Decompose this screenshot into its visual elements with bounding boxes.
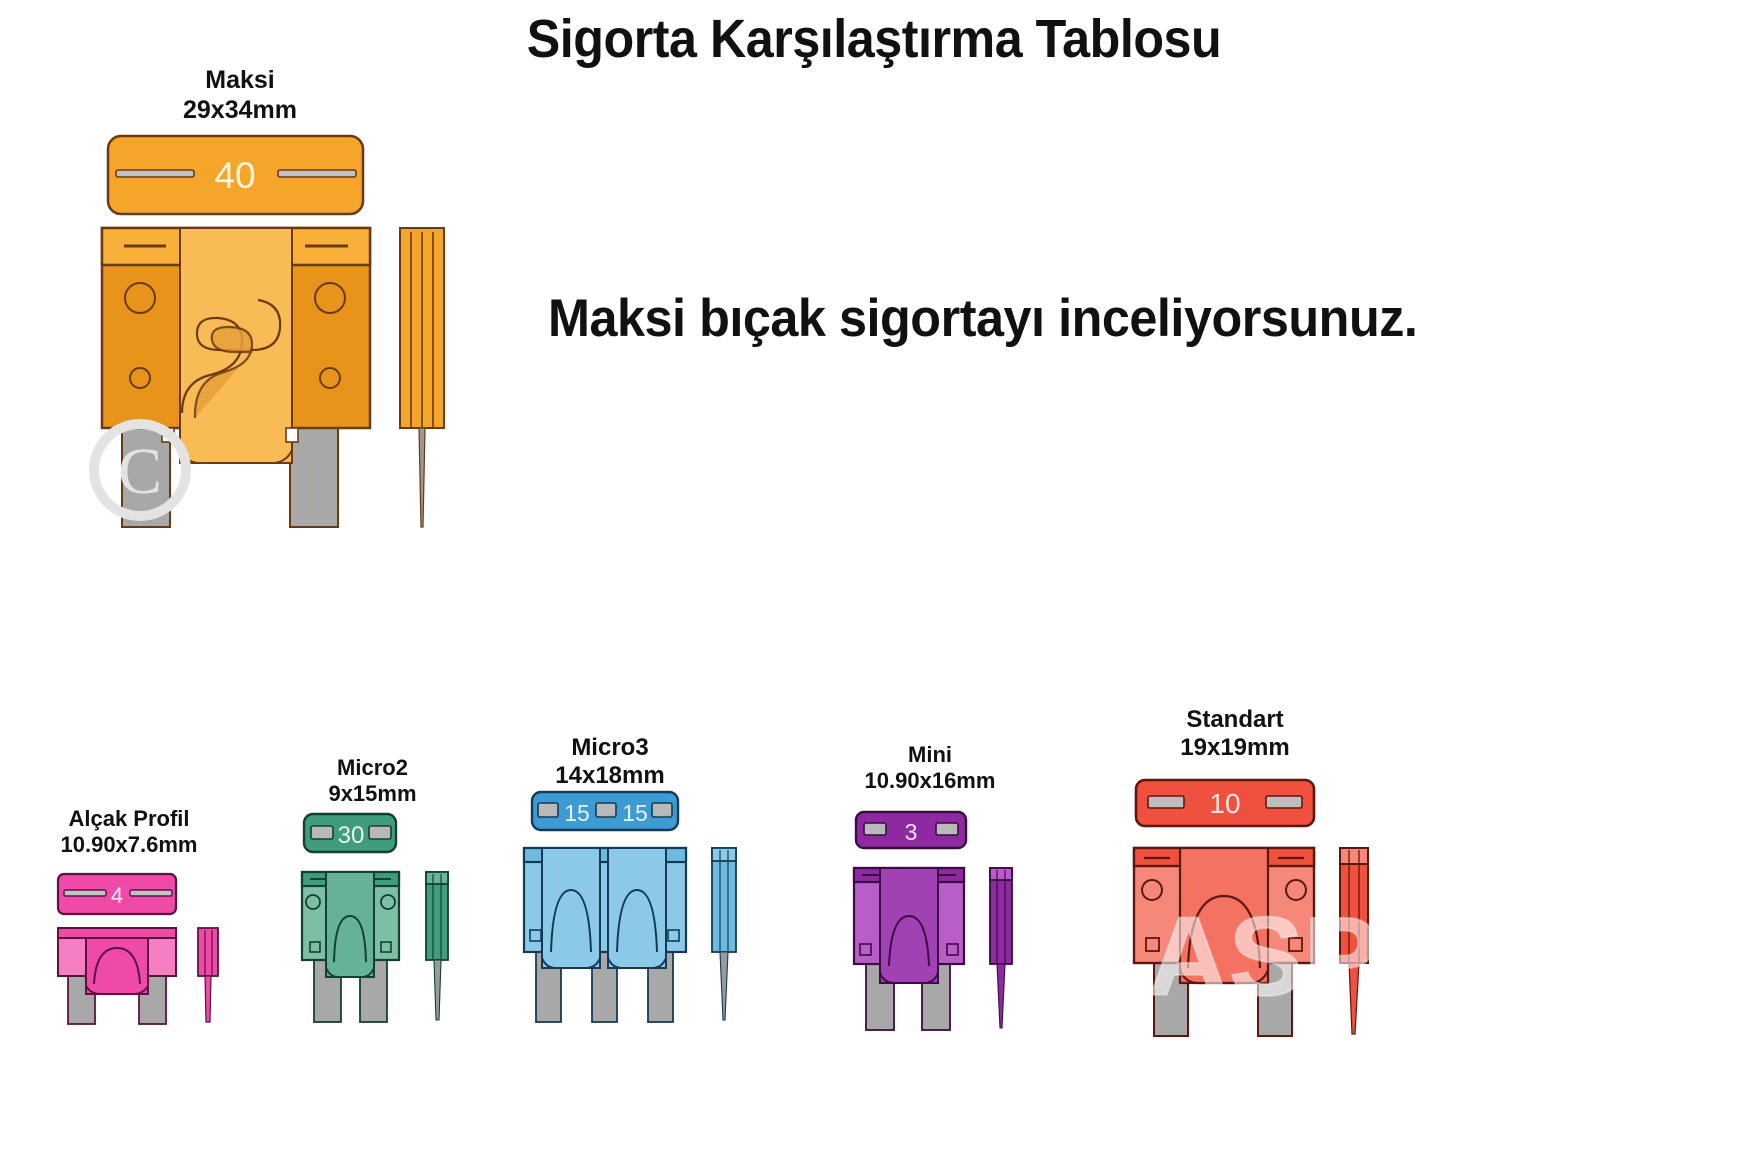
fuse-figure-micro3[interactable]: 15 15 xyxy=(518,790,748,1030)
caption-standart-size: 19x19mm xyxy=(1110,734,1360,762)
micro2-front-view xyxy=(302,872,399,1022)
caption-mini-size: 10.90x16mm xyxy=(805,768,1055,794)
fuse-figure-maksi[interactable]: 40 xyxy=(100,132,480,552)
caption-alcak-profil: Alçak Profil 10.90x7.6mm xyxy=(14,806,244,858)
maksi-top-view: 40 xyxy=(108,136,363,214)
mini-front-view xyxy=(854,868,964,1030)
fuse-figure-micro2[interactable]: 30 xyxy=(296,812,476,1032)
micro2-top-view: 30 xyxy=(304,814,396,852)
caption-micro2-name: Micro2 xyxy=(260,755,485,781)
caption-mini: Mini 10.90x16mm xyxy=(805,742,1055,794)
alcak-front-view xyxy=(58,928,176,1024)
caption-micro3-size: 14x18mm xyxy=(485,762,735,790)
standart-front-view xyxy=(1134,848,1314,1036)
caption-mini-name: Mini xyxy=(805,742,1055,768)
subtitle-text: Maksi bıçak sigortayı inceliyorsunuz. xyxy=(548,288,1417,349)
alcak-top-view: 4 xyxy=(58,874,176,914)
caption-alcak-name: Alçak Profil xyxy=(14,806,244,832)
maksi-front-view xyxy=(102,228,370,527)
caption-micro2-size: 9x15mm xyxy=(260,781,485,807)
fuse-figure-standart[interactable]: 10 xyxy=(1128,778,1408,1038)
caption-micro3-name: Micro3 xyxy=(485,734,735,762)
standart-top-rating: 10 xyxy=(1209,788,1240,819)
alcak-side-view xyxy=(198,928,218,1022)
page-title: Sigorta Karşılaştırma Tablosu xyxy=(61,8,1687,70)
micro3-top-rating-1: 15 xyxy=(564,800,590,826)
mini-side-view xyxy=(990,868,1012,1028)
micro3-top-view: 15 15 xyxy=(532,792,678,830)
micro3-front-view xyxy=(524,848,686,1022)
micro2-side-view xyxy=(426,872,448,1020)
caption-maksi: Maksi 29x34mm xyxy=(130,66,350,125)
maksi-top-rating: 40 xyxy=(214,155,255,196)
fuse-figure-alcak-profil[interactable]: 4 xyxy=(42,872,242,1032)
caption-standart: Standart 19x19mm xyxy=(1110,706,1360,763)
mini-top-view: 3 xyxy=(856,812,966,848)
caption-maksi-size: 29x34mm xyxy=(130,96,350,126)
caption-standart-name: Standart xyxy=(1110,706,1360,734)
caption-maksi-name: Maksi xyxy=(130,66,350,96)
caption-micro2: Micro2 9x15mm xyxy=(260,755,485,807)
standart-top-view: 10 xyxy=(1136,780,1314,826)
standart-side-view xyxy=(1340,848,1368,1034)
caption-micro3: Micro3 14x18mm xyxy=(485,734,735,791)
micro3-side-view xyxy=(712,848,736,1020)
alcak-top-rating: 4 xyxy=(111,883,123,908)
maksi-side-view xyxy=(400,228,444,527)
fuse-figure-mini[interactable]: 3 xyxy=(848,810,1038,1030)
micro2-top-rating: 30 xyxy=(338,822,365,849)
mini-top-rating: 3 xyxy=(905,819,918,845)
caption-alcak-size: 10.90x7.6mm xyxy=(14,832,244,858)
micro3-top-rating-2: 15 xyxy=(622,800,648,826)
